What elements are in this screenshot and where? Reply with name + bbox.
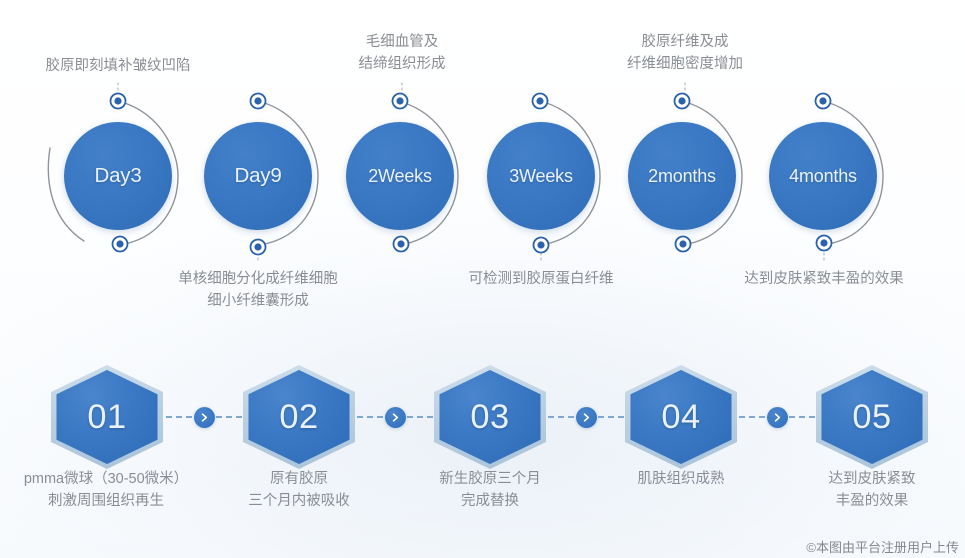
- step-number: 04: [661, 398, 700, 437]
- caption-line: 单核细胞分化成纤维细胞: [142, 268, 374, 290]
- process-connector-2-3: [357, 404, 433, 430]
- step-number: 03: [470, 398, 509, 437]
- caption-line: 完成替换: [413, 490, 567, 512]
- timeline-caption-3weeks: 可检测到胶原蛋白纤维: [441, 268, 641, 290]
- timeline-caption-day9: 单核细胞分化成纤维细胞 细小纤维囊形成: [142, 268, 374, 312]
- process-connector-4-5: [739, 404, 815, 430]
- chevron-right-icon: [767, 407, 788, 428]
- caption-line: 达到皮肤紧致丰盈的效果: [724, 268, 924, 290]
- caption-line: 纤维细胞密度增加: [595, 53, 775, 75]
- chevron-right-icon: [385, 407, 406, 428]
- timeline-node-label: 2months: [648, 166, 716, 187]
- caption-line: 胶原即刻填补皱纹凹陷: [18, 55, 218, 77]
- caption-line: 原有胶原: [223, 468, 375, 490]
- process-caption-01: pmma微球（30-50微米） 刺激周围组织再生: [0, 468, 215, 512]
- timeline-caption-2months: 胶原纤维及成 纤维细胞密度增加: [595, 31, 775, 75]
- chevron-right-icon: [194, 407, 215, 428]
- process-caption-04: 肌肤组织成熟: [605, 468, 757, 490]
- process-step-05[interactable]: 05: [816, 365, 928, 469]
- caption-line: 新生胶原三个月: [413, 468, 567, 490]
- caption-line: 结缔组织形成: [322, 53, 482, 75]
- timeline-node-label: 4months: [789, 166, 857, 187]
- caption-line: 毛细血管及: [322, 31, 482, 53]
- timeline-node-2weeks[interactable]: 2Weeks: [346, 122, 454, 230]
- process-step-04[interactable]: 04: [625, 365, 737, 469]
- timeline-node-day9[interactable]: Day9: [204, 122, 312, 230]
- caption-line: 细小纤维囊形成: [142, 290, 374, 312]
- process-caption-03: 新生胶原三个月 完成替换: [413, 468, 567, 512]
- process-step-02[interactable]: 02: [243, 365, 355, 469]
- timeline-caption-4months: 达到皮肤紧致丰盈的效果: [724, 268, 924, 290]
- caption-line: 丰盈的效果: [796, 490, 948, 512]
- step-number: 05: [852, 398, 891, 437]
- process-caption-05: 达到皮肤紧致 丰盈的效果: [796, 468, 948, 512]
- caption-line: 刺激周围组织再生: [0, 490, 215, 512]
- timeline-node-label: Day9: [234, 164, 281, 188]
- caption-line: 胶原纤维及成: [595, 31, 775, 53]
- process-caption-02: 原有胶原 三个月内被吸收: [223, 468, 375, 512]
- infographic-canvas: Day3 Day9 2Weeks 3Weeks 2months 4months …: [0, 0, 965, 558]
- caption-line: pmma微球（30-50微米）: [0, 468, 215, 490]
- step-number: 01: [87, 398, 126, 437]
- timeline-node-2months[interactable]: 2months: [628, 122, 736, 230]
- timeline-node-label: Day3: [94, 164, 141, 188]
- timeline-caption-2weeks: 毛细血管及 结缔组织形成: [322, 31, 482, 75]
- process-connector-3-4: [548, 404, 624, 430]
- timeline-node-4months[interactable]: 4months: [769, 122, 877, 230]
- timeline-node-3weeks[interactable]: 3Weeks: [487, 122, 595, 230]
- process-step-03[interactable]: 03: [434, 365, 546, 469]
- timeline-caption-day3: 胶原即刻填补皱纹凹陷: [18, 55, 218, 77]
- caption-line: 达到皮肤紧致: [796, 468, 948, 490]
- process-connector-1-2: [166, 404, 242, 430]
- timeline-node-label: 3Weeks: [509, 166, 573, 187]
- caption-line: 三个月内被吸收: [223, 490, 375, 512]
- watermark-text: ©本图由平台注册用户上传: [806, 537, 959, 556]
- caption-line: 可检测到胶原蛋白纤维: [441, 268, 641, 290]
- process-step-01[interactable]: 01: [51, 365, 163, 469]
- timeline-node-day3[interactable]: Day3: [64, 122, 172, 230]
- caption-line: 肌肤组织成熟: [605, 468, 757, 490]
- step-number: 02: [279, 398, 318, 437]
- chevron-right-icon: [576, 407, 597, 428]
- timeline-node-label: 2Weeks: [368, 166, 432, 187]
